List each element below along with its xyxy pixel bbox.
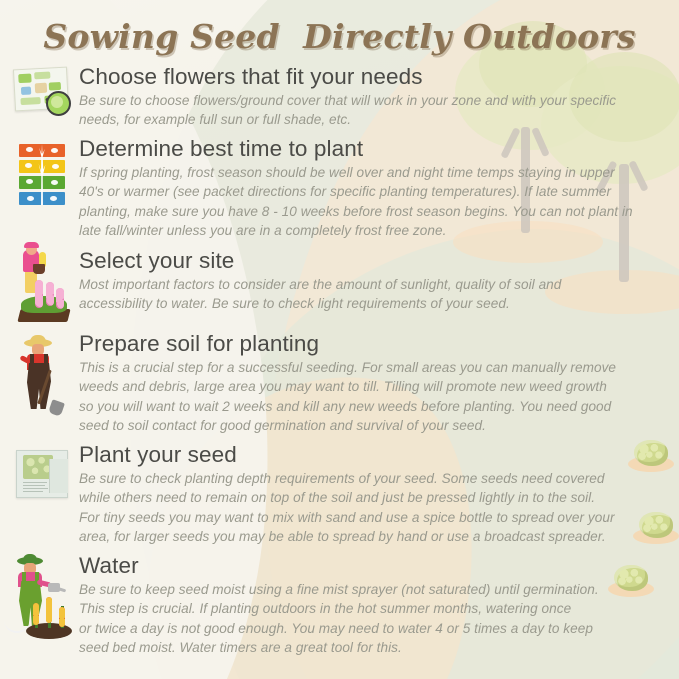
section-heading: Select your site [79,248,671,274]
section-text: Be sure to check planting depth requirem… [79,469,671,546]
section-body: Determine best time to plant If spring p… [79,136,671,240]
section-heading: Prepare soil for planting [79,331,671,357]
poster-content: Sowing Seed Directly Outdoors [0,0,679,679]
section-body: Choose flowers that fit your needs Be su… [79,64,671,130]
section-heading: Determine best time to plant [79,136,671,162]
section-text: Be sure to choose flowers/ground cover t… [79,91,671,130]
section-heading: Choose flowers that fit your needs [79,64,671,90]
garden-plan-magnifier-icon [10,68,74,114]
section-text: Most important factors to consider are t… [79,275,671,314]
four-seasons-icon [10,144,74,206]
seed-packet-icon [10,448,74,500]
section-body: Prepare soil for planting This is a cruc… [79,331,671,435]
section-heading: Plant your seed [79,442,671,468]
section-text: If spring planting, frost season should … [79,163,671,240]
section-text: This is a crucial step for a successful … [79,358,671,435]
section-text: Be sure to keep seed moist using a fine … [79,580,671,657]
infographic-poster: Sowing Seed Directly Outdoors [0,0,679,679]
section-body: Select your site Most important factors … [79,248,671,314]
gardener-with-flowers-icon [10,244,74,322]
section-heading: Water [79,553,671,579]
page-title: Sowing Seed Directly Outdoors [0,17,679,56]
section-body: Water Be sure to keep seed moist using a… [79,553,671,657]
section-body: Plant your seed Be sure to check plantin… [79,442,671,546]
farmer-with-shovel-icon [10,335,74,417]
gardener-watering-icon [6,555,70,639]
